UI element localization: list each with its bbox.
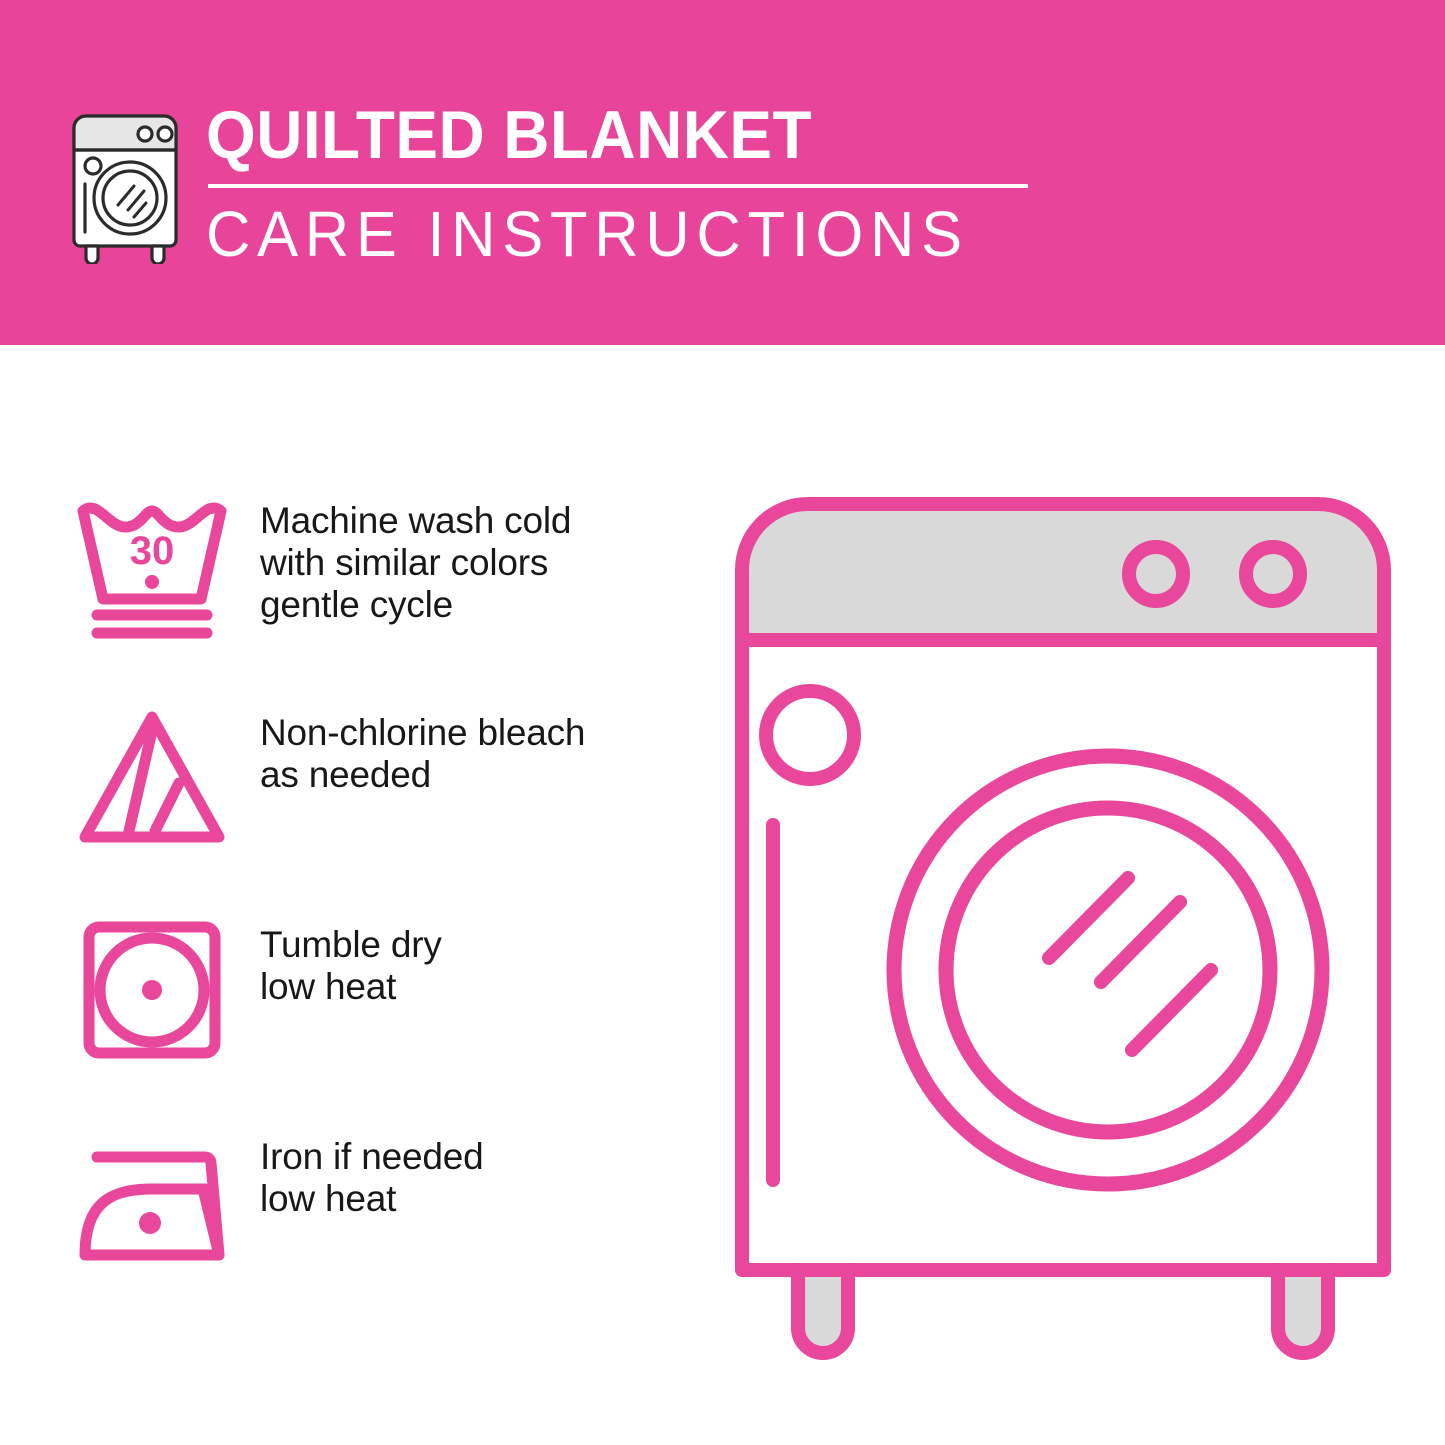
care-symbol-slot: 30 bbox=[62, 486, 242, 646]
detergent-dispenser-icon bbox=[766, 691, 854, 779]
care-row-bleach: Non-chlorine bleach as needed bbox=[62, 698, 682, 910]
page-subtitle: CARE INSTRUCTIONS bbox=[206, 198, 995, 270]
care-text-machine-wash: Machine wash cold with similar colors ge… bbox=[242, 486, 571, 626]
care-row-iron: Iron if needed low heat bbox=[62, 1122, 682, 1334]
washing-machine-icon bbox=[60, 104, 190, 264]
care-text-line: Machine wash cold bbox=[260, 500, 571, 542]
care-text-line: as needed bbox=[260, 754, 585, 796]
care-symbol-slot bbox=[62, 910, 242, 1070]
bleach-triangle-icon bbox=[67, 703, 237, 853]
care-text-line: low heat bbox=[260, 1178, 483, 1220]
header-banner: QUILTED BLANKET CARE INSTRUCTIONS bbox=[0, 0, 1445, 345]
care-text-line: Non-chlorine bleach bbox=[260, 712, 585, 754]
iron-icon bbox=[67, 1127, 237, 1277]
care-text-iron: Iron if needed low heat bbox=[242, 1122, 483, 1220]
care-text-line: low heat bbox=[260, 966, 442, 1008]
washer-foot-right bbox=[1278, 1270, 1328, 1353]
page-title: QUILTED BLANKET bbox=[206, 98, 979, 172]
care-text-line: Iron if needed bbox=[260, 1136, 483, 1178]
care-text-line: Tumble dry bbox=[260, 924, 442, 966]
care-text-line: with similar colors bbox=[260, 542, 571, 584]
tumble-dry-icon bbox=[67, 915, 237, 1065]
care-row-tumble-dry: Tumble dry low heat bbox=[62, 910, 682, 1122]
care-instructions-list: 30 Machine wash cold with similar colors… bbox=[62, 486, 682, 1334]
care-symbol-slot bbox=[62, 698, 242, 858]
control-panel-face bbox=[742, 504, 1384, 640]
door-glass-shine bbox=[1049, 878, 1211, 1050]
title-divider bbox=[208, 184, 1028, 188]
care-text-tumble-dry: Tumble dry low heat bbox=[242, 910, 442, 1008]
wash-tub-30-icon: 30 bbox=[67, 491, 237, 641]
wash-temperature-label: 30 bbox=[130, 529, 175, 573]
care-row-machine-wash: 30 Machine wash cold with similar colors… bbox=[62, 486, 682, 698]
care-text-bleach: Non-chlorine bleach as needed bbox=[242, 698, 585, 796]
care-text-line: gentle cycle bbox=[260, 584, 571, 626]
washer-foot-left bbox=[798, 1270, 848, 1353]
care-symbol-slot bbox=[62, 1122, 242, 1282]
front-load-washing-machine-illustration bbox=[718, 480, 1408, 1370]
title-block: QUILTED BLANKET CARE INSTRUCTIONS bbox=[206, 96, 1028, 270]
header-content: QUILTED BLANKET CARE INSTRUCTIONS bbox=[60, 96, 1028, 270]
